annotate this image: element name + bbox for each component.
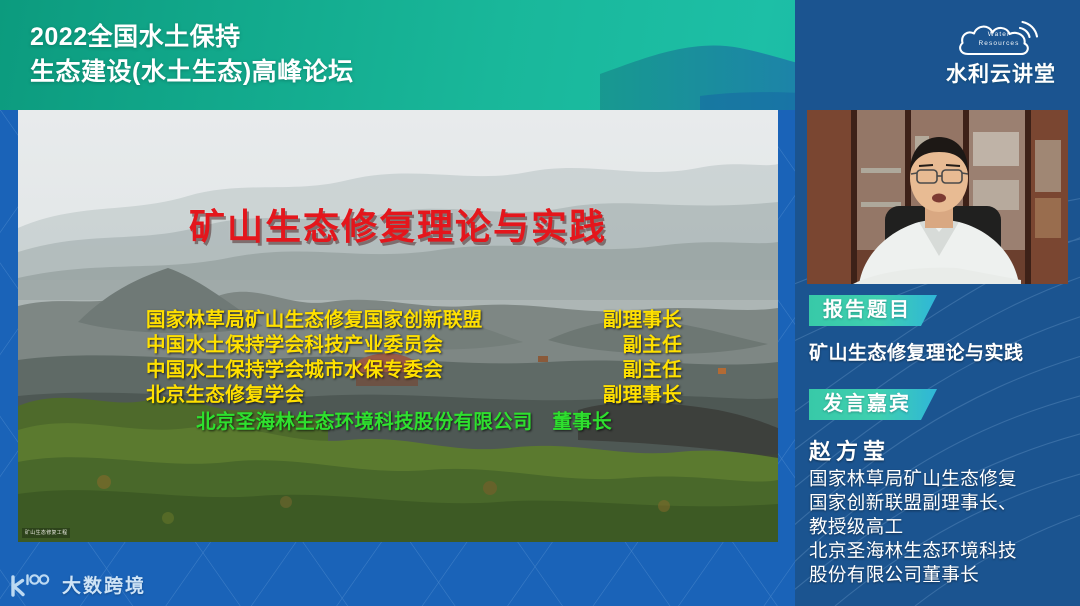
topic-label-badge: 报告题目 — [809, 295, 937, 326]
webcam-image — [807, 110, 1068, 284]
speaker-name: 赵方莹 — [809, 434, 1080, 466]
panel-content: 报告题目 矿山生态修复理论与实践 发言嘉宾 赵方莹 国家林草局矿山生态修复 国家… — [795, 295, 1080, 588]
brand-cloud-text: Water Resources — [964, 30, 1034, 48]
slide-image-caption: 矿山生态修复工程 — [22, 528, 70, 538]
page-title: 2022全国水土保持 生态建设(水土生态)高峰论坛 — [30, 20, 354, 90]
watermark: 大数跨境 — [10, 571, 146, 598]
credential-org: 北京生态修复学会 — [146, 383, 304, 408]
credential-row: 中国水土保持学会科技产业委员会 副主任 — [146, 333, 682, 358]
topic-value: 矿山生态修复理论与实践 — [809, 338, 1080, 365]
brand-name: 水利云讲堂 — [942, 58, 1060, 88]
credential-row: 国家林草局矿山生态修复国家创新联盟 副理事长 — [146, 308, 682, 333]
credential-role: 副理事长 — [603, 308, 682, 333]
k100-logo-icon — [10, 572, 54, 598]
watermark-label: 大数跨境 — [62, 571, 146, 598]
credential-role: 副主任 — [623, 333, 682, 358]
credential-org: 中国水土保持学会城市水保专委会 — [146, 358, 443, 383]
credential-row: 中国水土保持学会城市水保专委会 副主任 — [146, 358, 682, 383]
stream-viewport: 大数跨境 2022全国水土保持 生态建设(水土生态)高峰论坛 Water R — [0, 0, 1080, 606]
speaker-webcam-feed[interactable] — [807, 110, 1068, 284]
credential-list: 国家林草局矿山生态修复国家创新联盟 副理事长 中国水土保持学会科技产业委员会 副… — [18, 308, 778, 435]
credential-role: 副主任 — [623, 358, 682, 383]
brand-logo: Water Resources 水利云讲堂 — [942, 12, 1060, 96]
presentation-slide[interactable]: 矿山生态修复工程 矿山生态修复理论与实践 国家林草局矿山生态修复国家创新联盟 副… — [18, 110, 778, 542]
credential-role: 副理事长 — [603, 383, 682, 408]
credential-company-row: 北京圣海林生态环境科技股份有限公司 董事长 — [146, 409, 682, 435]
speaker-label-badge: 发言嘉宾 — [809, 389, 937, 420]
slide-title: 矿山生态修复理论与实践 — [18, 198, 778, 250]
credential-org: 国家林草局矿山生态修复国家创新联盟 — [146, 308, 483, 333]
credential-org: 中国水土保持学会科技产业委员会 — [146, 333, 443, 358]
credential-row: 北京生态修复学会 副理事长 — [146, 383, 682, 408]
speaker-bio: 国家林草局矿山生态修复 国家创新联盟副理事长、 教授级高工 北京圣海林生态环境科… — [809, 468, 1080, 588]
